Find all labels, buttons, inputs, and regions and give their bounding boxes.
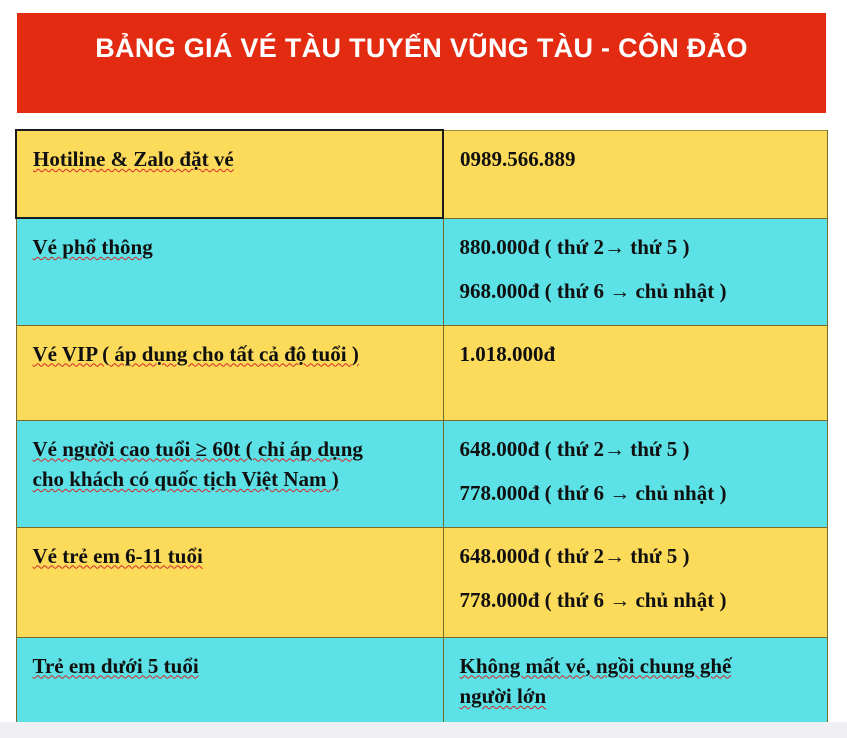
table-row: Vé VIP ( áp dụng cho tất cả độ tuổi ) 1.… — [16, 325, 827, 420]
price-table-page: BẢNG GIÁ VÉ TÀU TUYẾN VŨNG TÀU - CÔN ĐẢO… — [0, 0, 847, 738]
row-label-cell: Trẻ em dưới 5 tuổi — [16, 637, 443, 722]
row-label-text-line-2: cho khách có quốc tịch Việt Nam ) — [33, 465, 429, 493]
table-row: Vé trẻ em 6-11 tuổi 648.000đ ( thứ 2→ th… — [16, 527, 827, 637]
row-value-text-weekend: 778.000đ ( thứ 6 → chủ nhật ) — [460, 586, 813, 614]
row-label-text-line-1: Vé người cao tuổi ≥ 60t ( chỉ áp dụng — [33, 435, 429, 463]
row-label-text: Vé phổ thông — [33, 233, 429, 261]
table-row: Vé người cao tuổi ≥ 60t ( chỉ áp dụng ch… — [16, 420, 827, 527]
row-value-cell: Không mất vé, ngồi chung ghế người lớn — [443, 637, 827, 722]
bottom-strip — [0, 722, 847, 738]
row-label-text: Vé VIP ( áp dụng cho tất cả độ tuổi ) — [33, 340, 429, 368]
header-banner: BẢNG GIÁ VÉ TÀU TUYẾN VŨNG TÀU - CÔN ĐẢO — [17, 13, 826, 113]
row-label-text: Hotiline & Zalo đặt vé — [33, 145, 428, 173]
row-label-text: Vé trẻ em 6-11 tuổi — [33, 542, 429, 570]
row-value-text-weekday: 880.000đ ( thứ 2→ thứ 5 ) — [460, 233, 813, 261]
row-value-text: 0989.566.889 — [460, 145, 813, 173]
row-value-text-weekday: 648.000đ ( thứ 2→ thứ 5 ) — [460, 435, 813, 463]
row-value-cell: 1.018.000đ — [443, 325, 827, 420]
row-label-cell: Vé VIP ( áp dụng cho tất cả độ tuổi ) — [16, 325, 443, 420]
table-row: Hotiline & Zalo đặt vé 0989.566.889 — [16, 130, 827, 218]
row-label-cell: Vé người cao tuổi ≥ 60t ( chỉ áp dụng ch… — [16, 420, 443, 527]
row-label-cell: Hotiline & Zalo đặt vé — [16, 130, 443, 218]
table-row: Trẻ em dưới 5 tuổi Không mất vé, ngồi ch… — [16, 637, 827, 722]
row-label-text: Trẻ em dưới 5 tuổi — [33, 652, 429, 680]
row-value-cell: 648.000đ ( thứ 2→ thứ 5 ) 778.000đ ( thứ… — [443, 420, 827, 527]
row-value-text: 1.018.000đ — [460, 340, 813, 368]
row-value-cell: 648.000đ ( thứ 2→ thứ 5 ) 778.000đ ( thứ… — [443, 527, 827, 637]
row-value-text-weekend: 968.000đ ( thứ 6 → chủ nhật ) — [460, 277, 813, 305]
page-title: BẢNG GIÁ VÉ TÀU TUYẾN VŨNG TÀU - CÔN ĐẢO — [17, 33, 826, 64]
row-value-cell: 0989.566.889 — [443, 130, 827, 218]
table-row: Vé phổ thông 880.000đ ( thứ 2→ thứ 5 ) 9… — [16, 218, 827, 325]
row-value-text-weekday: 648.000đ ( thứ 2→ thứ 5 ) — [460, 542, 813, 570]
row-value-text-weekend: 778.000đ ( thứ 6 → chủ nhật ) — [460, 479, 813, 507]
row-value-cell: 880.000đ ( thứ 2→ thứ 5 ) 968.000đ ( thứ… — [443, 218, 827, 325]
row-label-cell: Vé trẻ em 6-11 tuổi — [16, 527, 443, 637]
row-value-text-line-2: người lớn — [460, 682, 813, 710]
price-table: Hotiline & Zalo đặt vé 0989.566.889 Vé p… — [15, 129, 828, 723]
row-value-text-line-1: Không mất vé, ngồi chung ghế — [460, 652, 813, 680]
row-label-cell: Vé phổ thông — [16, 218, 443, 325]
